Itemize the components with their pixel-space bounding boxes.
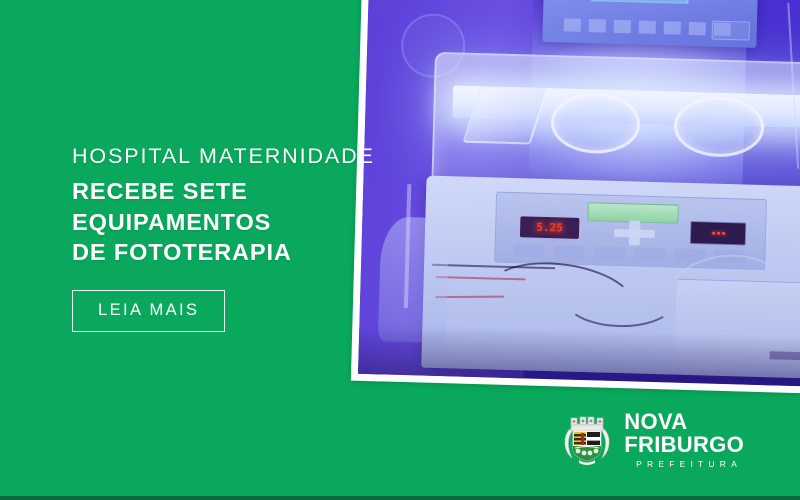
kicker-text: HOSPITAL MATERNIDADE bbox=[72, 144, 375, 169]
logo-line-friburgo: FRIBURGO bbox=[624, 434, 744, 456]
headline: RECEBE SETE EQUIPAMENTOS DE FOTOTERAPIA bbox=[72, 176, 375, 268]
logo-subtitle-prefeitura: PREFEITURA bbox=[624, 460, 744, 469]
banner-content: HOSPITAL MATERNIDADE RECEBE SETE EQUIPAM… bbox=[72, 144, 375, 332]
logo-wordmark: NOVA FRIBURGO PREFEITURA bbox=[624, 411, 744, 469]
headline-line-2: EQUIPAMENTOS bbox=[72, 207, 375, 238]
porthole-latch bbox=[766, 104, 786, 110]
headline-line-3: DE FOTOTERAPIA bbox=[72, 237, 375, 268]
floor-shadow bbox=[358, 324, 800, 387]
nova-friburgo-coat-of-arms-icon bbox=[561, 412, 613, 466]
headline-line-1: RECEBE SETE bbox=[72, 176, 375, 207]
led-display-value: 5.25 bbox=[536, 222, 563, 234]
bottom-accent-strip bbox=[0, 496, 800, 500]
control-panel-led-secondary bbox=[690, 221, 746, 245]
porthole-latch bbox=[643, 100, 663, 106]
phototherapy-unit-label bbox=[712, 20, 751, 41]
read-more-button[interactable]: LEIA MAIS bbox=[72, 290, 225, 332]
city-hall-logo[interactable]: NOVA FRIBURGO PREFEITURA bbox=[561, 411, 744, 469]
logo-line-nova: NOVA bbox=[624, 411, 744, 433]
incubator-porthole bbox=[673, 96, 764, 158]
incubator-photo: 5.25 bbox=[358, 0, 800, 387]
phototherapy-unit-screen bbox=[590, 0, 689, 4]
incubator-porthole bbox=[550, 93, 641, 155]
news-banner: 5.25 bbox=[0, 0, 800, 500]
control-panel-dpad bbox=[614, 220, 655, 246]
article-photo-frame: 5.25 bbox=[351, 0, 800, 395]
phototherapy-unit-top bbox=[542, 0, 758, 48]
phototherapy-unit-buttons bbox=[564, 19, 731, 36]
control-panel-led-display: 5.25 bbox=[520, 216, 580, 238]
incubator-hood-panel bbox=[462, 87, 548, 146]
